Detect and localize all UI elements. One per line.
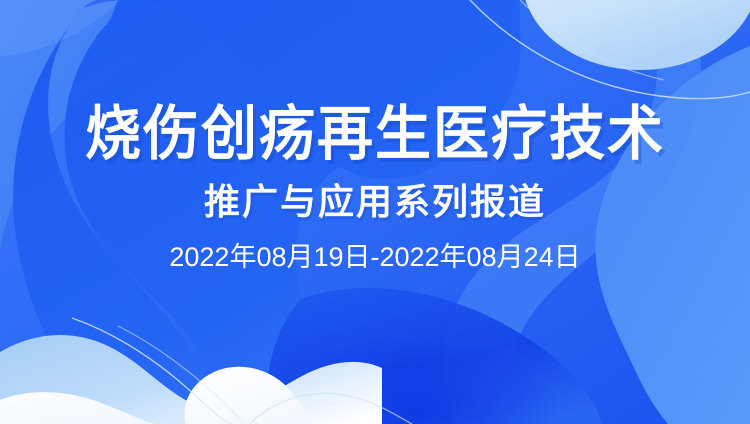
banner-title-sub: 推广与应用系列报道	[204, 184, 546, 220]
banner-title-main: 烧伤创疡再生医疗技术	[85, 104, 665, 163]
banner-content: 烧伤创疡再生医疗技术 推广与应用系列报道 2022年08月19日-2022年08…	[0, 0, 750, 424]
banner-date-range: 2022年08月19日-2022年08月24日	[169, 244, 580, 271]
promo-banner: 烧伤创疡再生医疗技术 推广与应用系列报道 2022年08月19日-2022年08…	[0, 0, 750, 424]
